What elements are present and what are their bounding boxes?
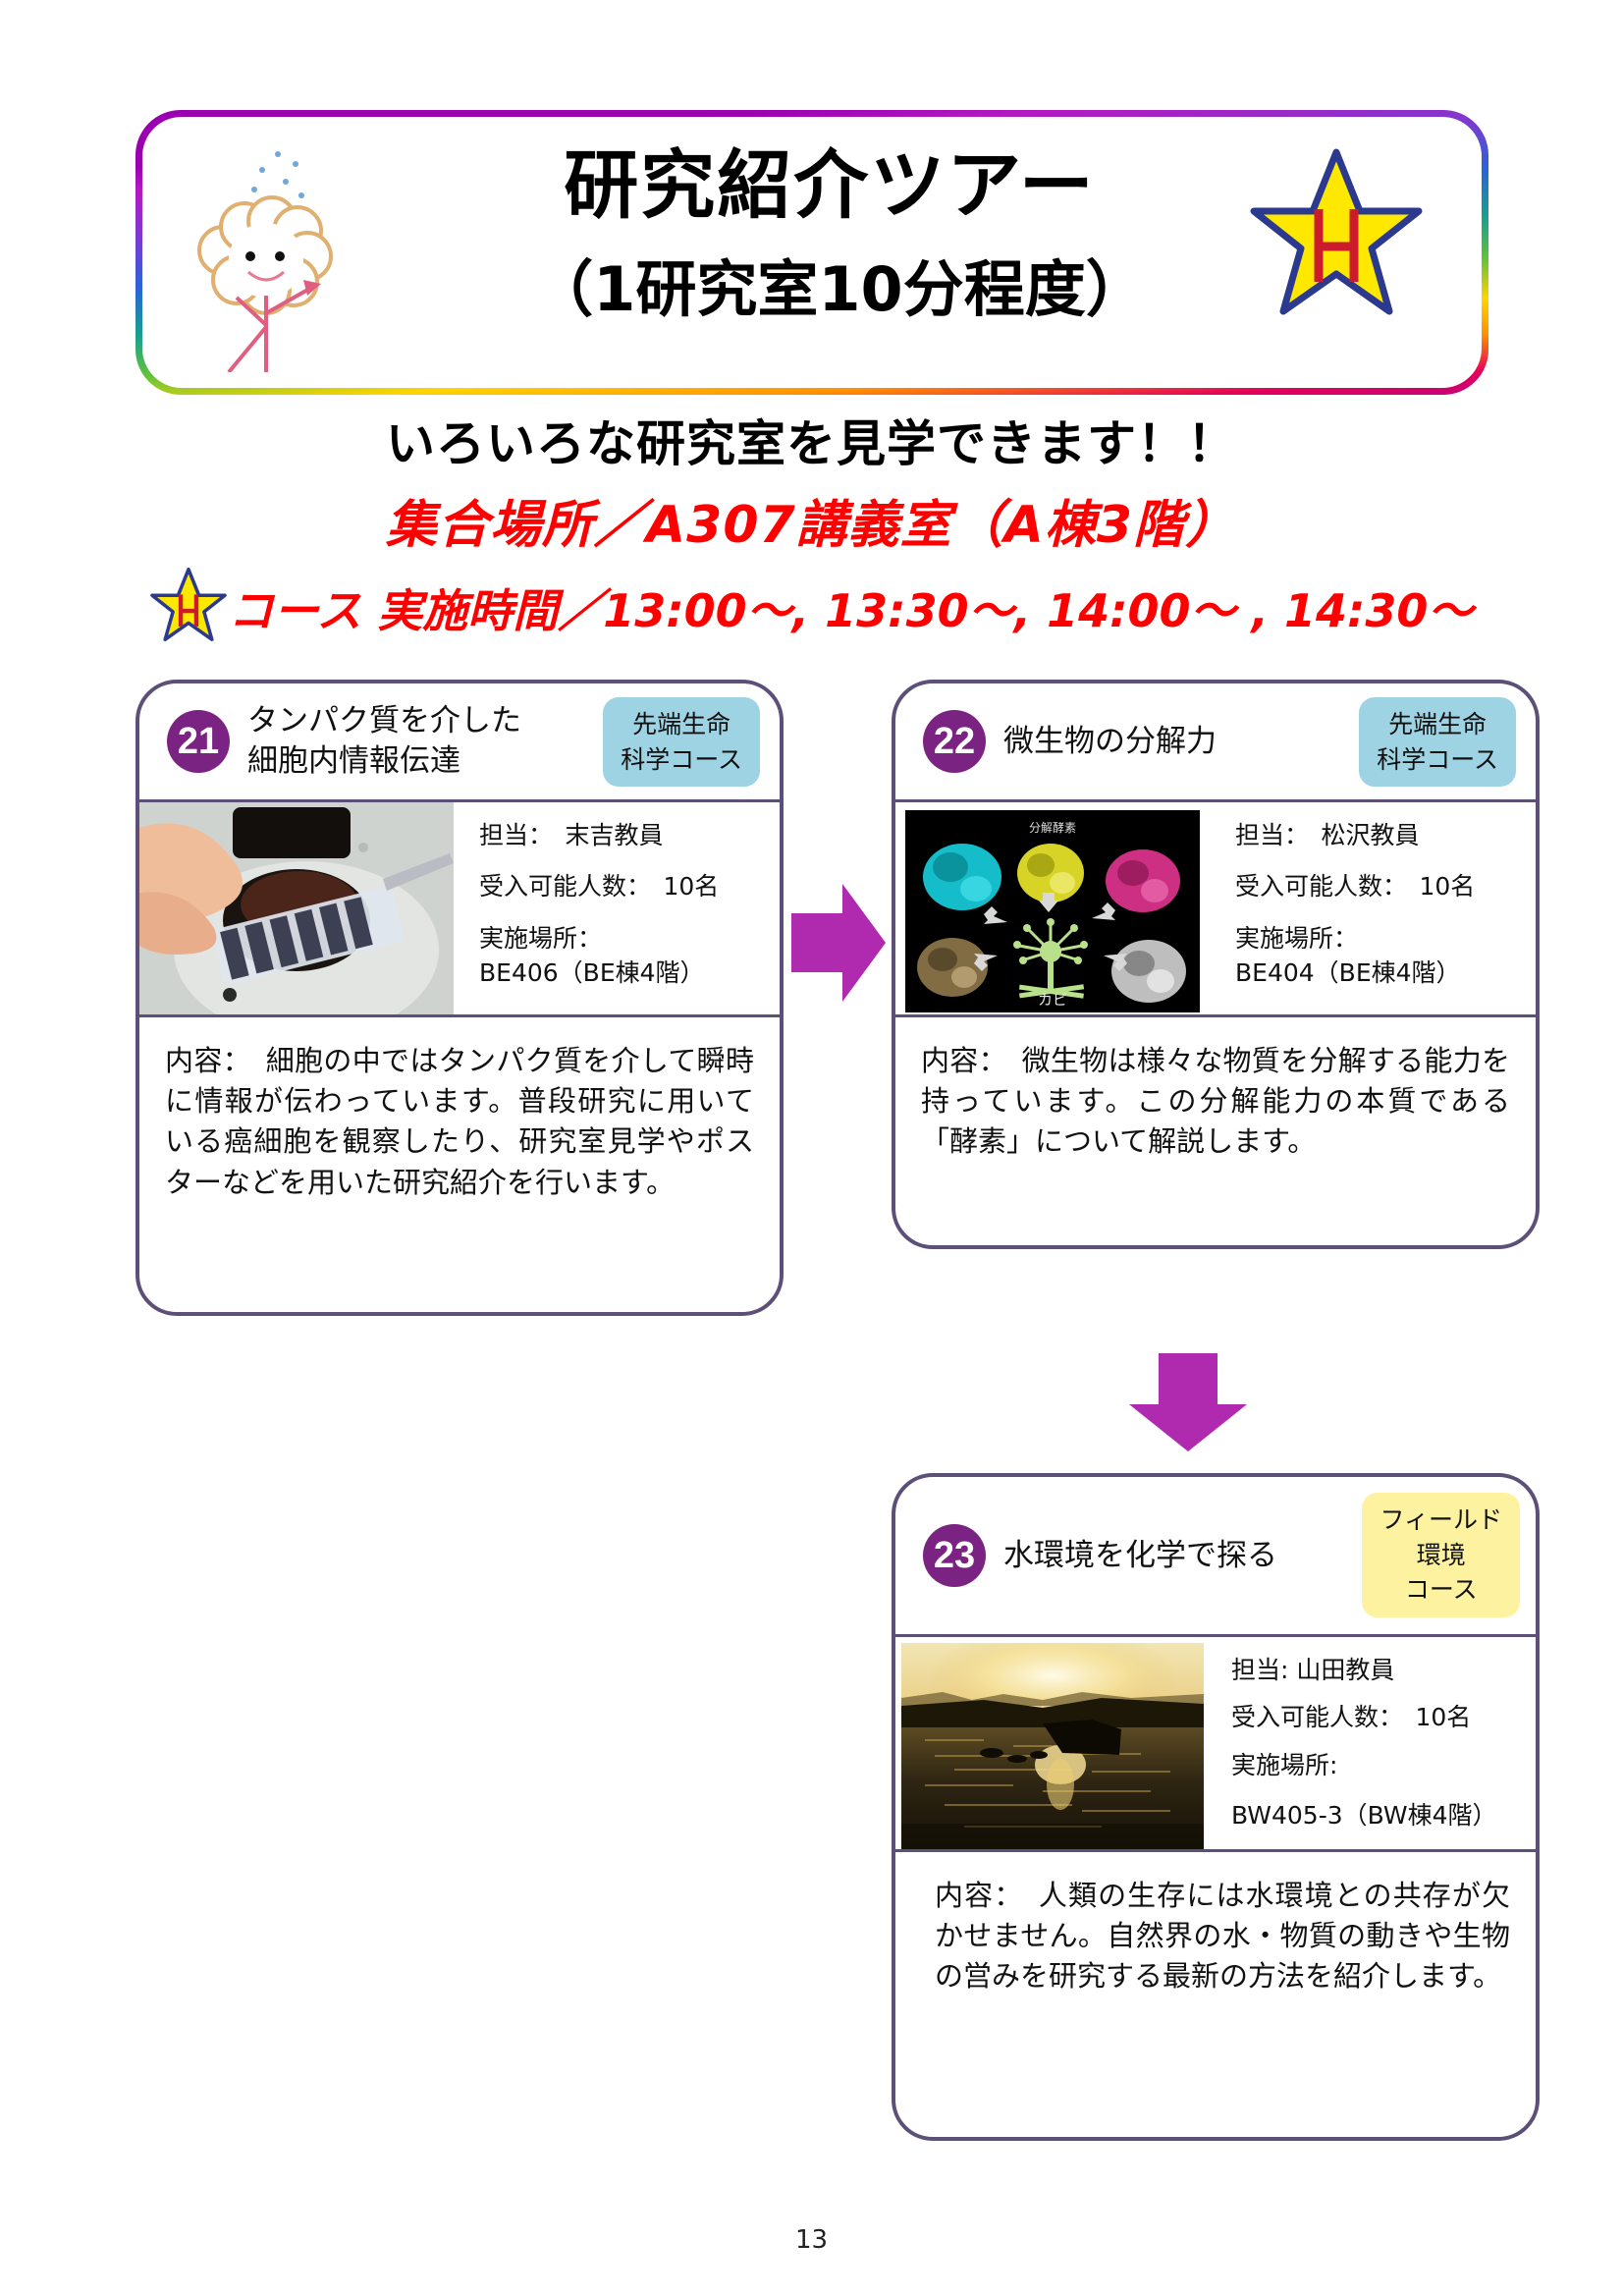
capacity-label: 受入可能人数： 10名: [1235, 871, 1526, 902]
card-title: タンパク質を介した 細胞内情報伝達: [247, 701, 521, 782]
protein-structures-diagram: 分解酵素: [895, 802, 1210, 1014]
course-tag: 先端生命 科学コース: [1359, 697, 1516, 787]
card-description: 内容： 人類の生存には水環境との共存が欠かせません。自然界の水・物質の動きや生物…: [895, 1852, 1536, 2017]
lab-card-21[interactable]: 21 タンパク質を介した 細胞内情報伝達 先端生命 科学コース: [135, 680, 784, 1316]
location-value: BW405-3（BW棟4階）: [1231, 1799, 1526, 1833]
star-badge-h-icon: [1250, 148, 1423, 331]
image-label-top: 分解酵素: [1029, 821, 1076, 835]
card-title: 水環境を化学で探る: [1003, 1536, 1277, 1576]
arrow-down-icon: [1129, 1353, 1247, 1451]
image-label-bottom: カビ: [1038, 991, 1067, 1009]
location-label: 実施場所：: [479, 922, 770, 957]
card-header: 22 微生物の分解力 先端生命 科学コース: [895, 683, 1536, 799]
header-banner: 研究紹介ツアー （1研究室10分程度）: [135, 110, 1488, 395]
card-header: 23 水環境を化学で探る フィールド 環境 コース: [895, 1477, 1536, 1634]
capacity-label: 受入可能人数： 10名: [479, 871, 770, 902]
lab-card-22[interactable]: 22 微生物の分解力 先端生命 科学コース 分解酵素: [892, 680, 1540, 1249]
card-detail-row: 担当： 末吉教員 受入可能人数： 10名 実施場所： BE406（BE棟4階）: [139, 799, 780, 1017]
banner-title: 研究紹介ツアー: [437, 144, 1222, 227]
meeting-place-headline: 集合場所／A307講義室（A棟3階）: [0, 483, 1623, 557]
header-banner-inner: 研究紹介ツアー （1研究室10分程度）: [142, 117, 1482, 388]
course-tag: 先端生命 科学コース: [603, 697, 760, 787]
page-number: 13: [0, 2225, 1623, 2255]
card-detail-row: 分解酵素: [895, 799, 1536, 1017]
location-label: 実施場所：: [1235, 922, 1526, 957]
lab-card-23[interactable]: 23 水環境を化学で探る フィールド 環境 コース: [892, 1473, 1540, 2141]
lake-sunset-photo: [895, 1637, 1210, 1849]
card-number-badge: 21: [167, 710, 230, 773]
location-value: BE406（BE棟4階）: [479, 957, 770, 991]
flower-character-icon: [184, 140, 370, 372]
schedule-row: コース 実施時間／13:00〜, 13:30〜, 14:00〜 , 14:30〜: [0, 568, 1623, 648]
capacity-label: 受入可能人数： 10名: [1231, 1702, 1526, 1733]
location-value: BE404（BE棟4階）: [1235, 957, 1526, 991]
banner-subtitle: （1研究室10分程度）: [437, 254, 1242, 324]
arrow-right-icon: [791, 884, 886, 1002]
teacher-label: 担当： 末吉教員: [479, 820, 770, 851]
card-description: 内容： 微生物は様々な物質を分解する能力を持っています。この分解能力の本質である…: [895, 1017, 1536, 1182]
card-meta: 担当： 末吉教員 受入可能人数： 10名 実施場所： BE406（BE棟4階）: [454, 802, 780, 1014]
teacher-label: 担当: 山田教員: [1231, 1655, 1526, 1686]
card-meta: 担当: 山田教員 受入可能人数： 10名 実施場所: BW405-3（BW棟4階…: [1210, 1637, 1536, 1849]
card-number-badge: 23: [923, 1524, 986, 1587]
card-title: 微生物の分解力: [1003, 722, 1217, 762]
microscope-slide-photo: [139, 802, 454, 1014]
card-header: 21 タンパク質を介した 細胞内情報伝達 先端生命 科学コース: [139, 683, 780, 799]
card-number-badge: 22: [923, 710, 986, 773]
intro-headline: いろいろな研究室を見学できます！！: [0, 405, 1623, 475]
card-detail-row: 担当: 山田教員 受入可能人数： 10名 実施場所: BW405-3（BW棟4階…: [895, 1634, 1536, 1852]
teacher-label: 担当： 松沢教員: [1235, 820, 1526, 851]
card-description: 内容： 細胞の中ではタンパク質を介して瞬時に情報が伝わっています。普段研究に用い…: [139, 1017, 780, 1223]
card-meta: 担当： 松沢教員 受入可能人数： 10名 実施場所： BE404（BE棟4階）: [1210, 802, 1536, 1014]
schedule-text: コース 実施時間／13:00〜, 13:30〜, 14:00〜 , 14:30〜: [229, 575, 1474, 640]
poster-page: 研究紹介ツアー （1研究室10分程度） いろいろな研究室を見学できます！！ 集合…: [0, 0, 1623, 2296]
location-label: 実施場所:: [1231, 1749, 1526, 1783]
star-badge-h-small-icon: [150, 568, 227, 648]
course-tag: フィールド 環境 コース: [1362, 1493, 1520, 1617]
